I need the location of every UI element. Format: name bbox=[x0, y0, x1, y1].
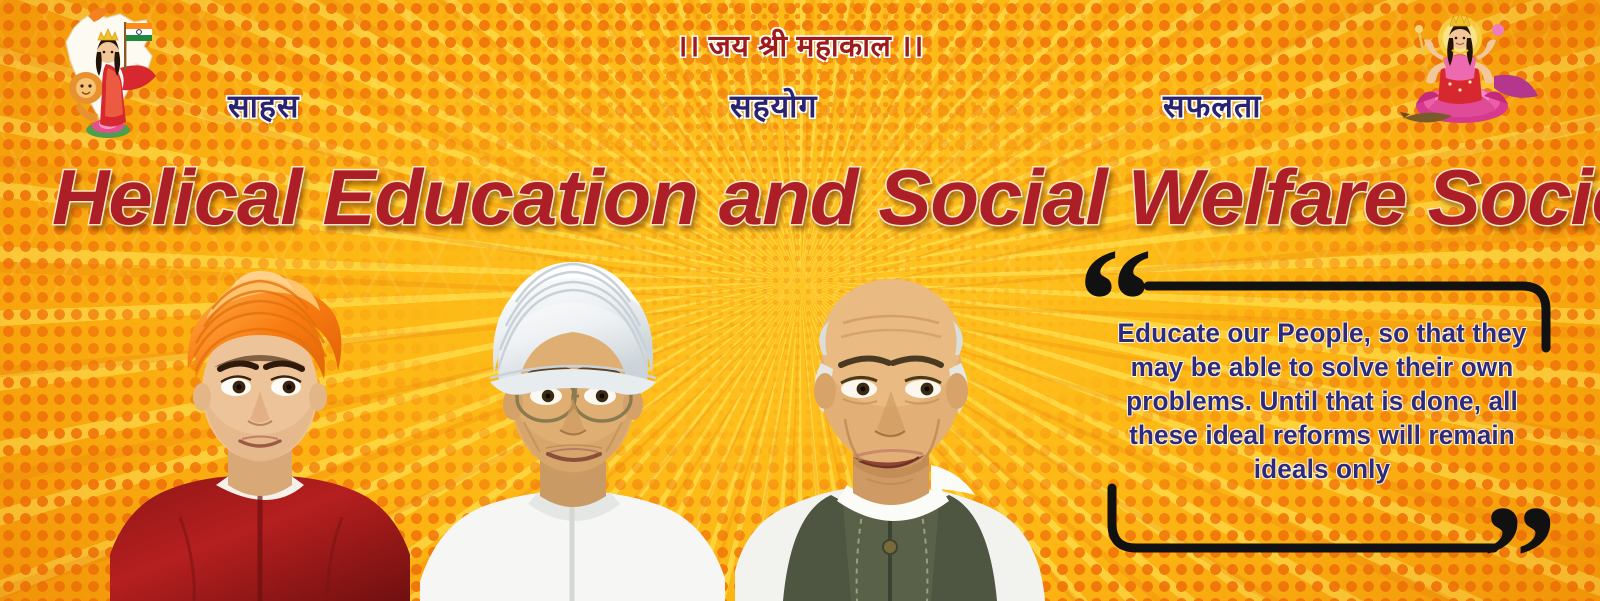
swami-vivekananda-portrait bbox=[110, 251, 410, 601]
quote-block: “ ” Educate our People, so that they may… bbox=[1060, 248, 1580, 593]
sarvepalli-radhakrishnan-portrait bbox=[420, 246, 725, 601]
keyword-sahas: साहस bbox=[228, 84, 300, 127]
mantra-text: ।। जय श्री महाकाल ।। bbox=[0, 24, 1600, 65]
organization-title: Helical Education and Social Welfare Soc… bbox=[52, 152, 1582, 243]
quote-text: Educate our People, so that they may be … bbox=[1095, 316, 1549, 486]
bharat-mata-india-map-emblem bbox=[48, 2, 178, 142]
keyword-sahyog: सहयोग bbox=[730, 84, 818, 127]
banner-root: ।। जय श्री महाकाल ।। साहस सहयोग सफलता He… bbox=[0, 0, 1600, 601]
vallabhbhai-patel-portrait bbox=[735, 251, 1045, 601]
keyword-safalta: सफलता bbox=[1163, 84, 1262, 127]
goddess-lakshmi-lotus-emblem bbox=[1398, 2, 1548, 142]
quote-close-mark: ” bbox=[1482, 483, 1557, 601]
